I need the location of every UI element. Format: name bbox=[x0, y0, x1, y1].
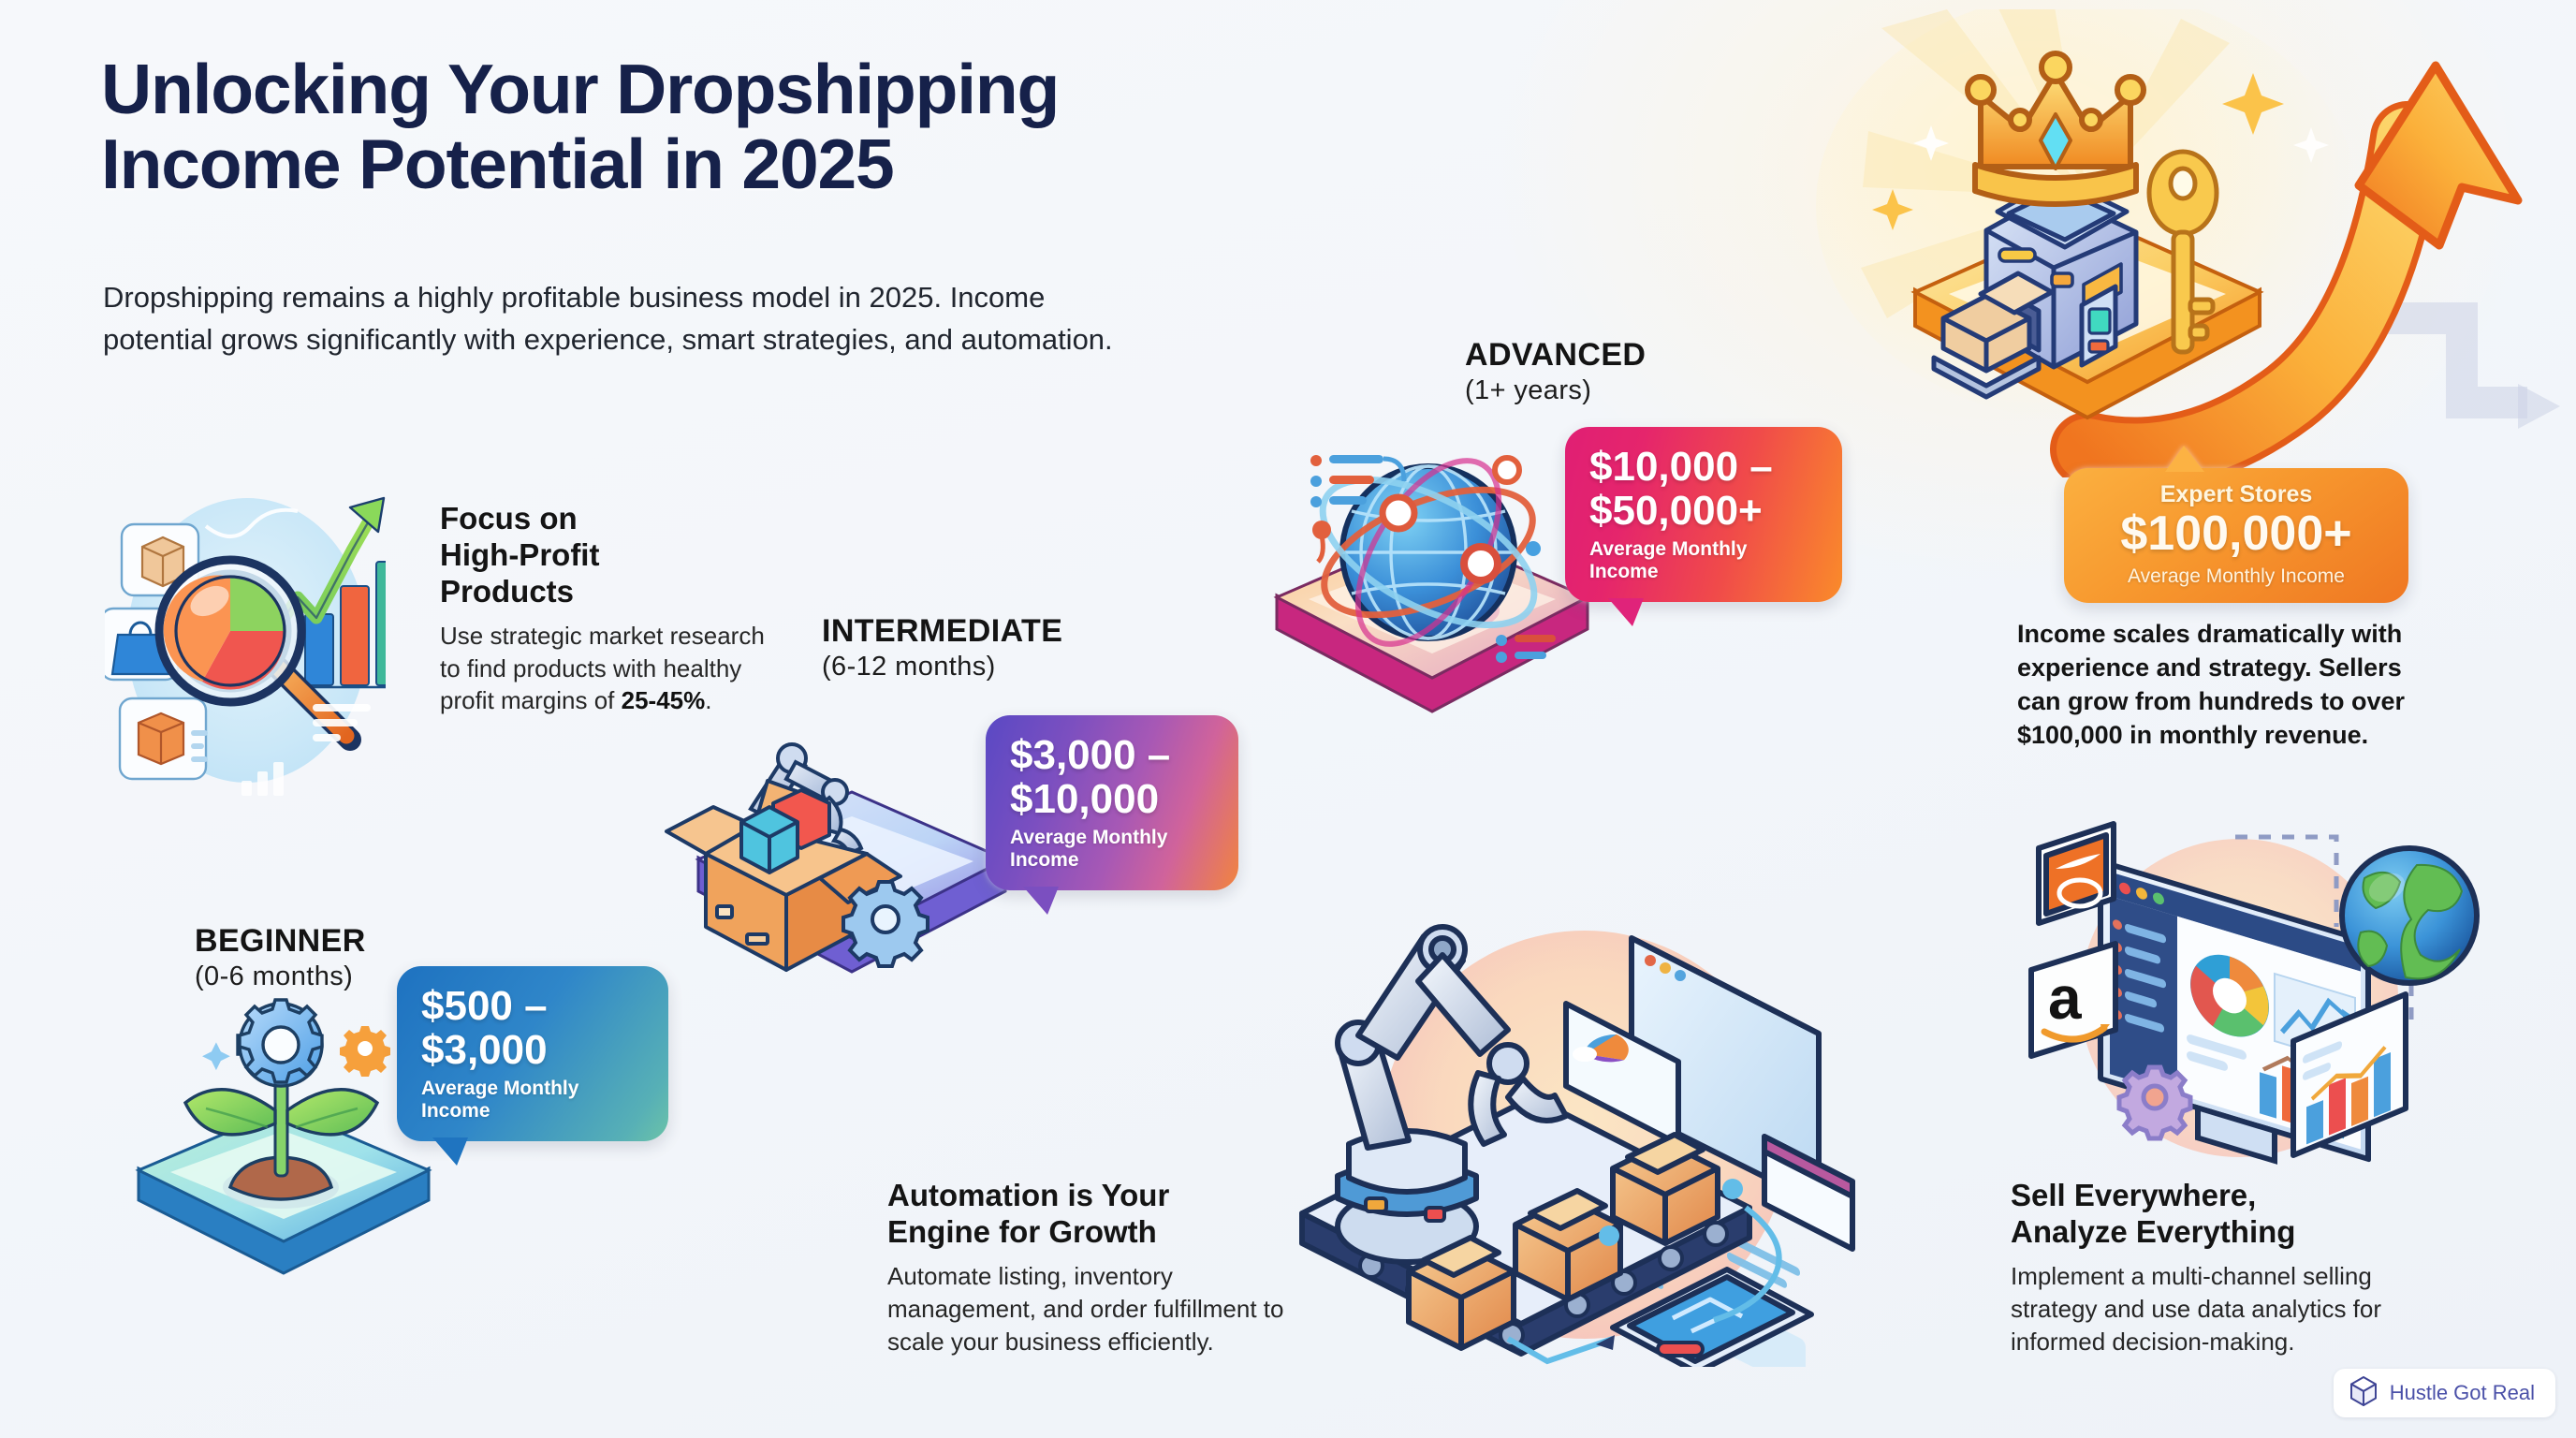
feature-multichannel: Sell Everywhere, Analyze Everything Impl… bbox=[2011, 1178, 2451, 1357]
expert-note-line3: can grow from hundreds to over bbox=[2017, 685, 2438, 719]
monitor-globe-analytics-icon: a bbox=[1994, 796, 2481, 1170]
stage-advanced-amount: $10,000 – $50,000+ bbox=[1589, 446, 1818, 533]
cube-logo-icon bbox=[2349, 1375, 2378, 1412]
expert-note-line4: $100,000 in monthly revenue. bbox=[2017, 719, 2438, 753]
page-subtitle: Dropshipping remains a highly profitable… bbox=[103, 277, 1114, 360]
feature-multichannel-body: Implement a multi-channel selling strate… bbox=[2011, 1260, 2451, 1357]
svg-text:a: a bbox=[2048, 964, 2082, 1032]
feature-automation-title: Automation is Your Engine for Growth bbox=[887, 1178, 1318, 1251]
feature-automation-body: Automate listing, inventory management, … bbox=[887, 1260, 1318, 1357]
expert-note-line2: experience and strategy. Sellers bbox=[2017, 652, 2438, 685]
expert-note-line1: Income scales dramatically with bbox=[2017, 618, 2438, 652]
feature-automation: Automation is Your Engine for Growth Aut… bbox=[887, 1178, 1318, 1357]
stage-advanced-name: ADVANCED bbox=[1465, 337, 1646, 374]
stage-beginner-caption: Average Monthly Income bbox=[421, 1078, 644, 1123]
stage-intermediate-amount: $3,000 – $10,000 bbox=[1010, 734, 1214, 821]
page-title-line2: Income Potential in 2025 bbox=[101, 127, 1430, 202]
stage-beginner-amount: $500 – $3,000 bbox=[421, 985, 644, 1072]
robot-conveyor-icon bbox=[1287, 899, 1867, 1367]
stage-beginner-label: BEGINNER (0-6 months) bbox=[195, 923, 366, 992]
stage-beginner-name: BEGINNER bbox=[195, 923, 366, 960]
stage-expert-amount: $100,000+ bbox=[2083, 508, 2390, 560]
stage-intermediate-bubble: $3,000 – $10,000 Average Monthly Income bbox=[986, 715, 1238, 890]
watermark-label: Hustle Got Real bbox=[2390, 1381, 2535, 1405]
stage-advanced-duration: (1+ years) bbox=[1465, 375, 1646, 406]
feature-high-profit-title: Focus on High-Profit Products bbox=[440, 501, 766, 610]
bubble-tail bbox=[2165, 446, 2204, 472]
page-title: Unlocking Your Dropshipping Income Poten… bbox=[101, 52, 1430, 201]
box-robot-arm-icon bbox=[665, 712, 1039, 992]
stage-expert-bubble: Expert Stores $100,000+ Average Monthly … bbox=[2064, 468, 2408, 603]
expert-note: Income scales dramatically with experien… bbox=[2017, 618, 2438, 753]
stage-intermediate-label: INTERMEDIATE (6-12 months) bbox=[822, 613, 1062, 682]
stage-beginner-duration: (0-6 months) bbox=[195, 961, 366, 992]
crowned-store-icon bbox=[1807, 9, 2565, 477]
bubble-tail bbox=[1023, 887, 1059, 915]
feature-high-profit: Focus on High-Profit Products Use strate… bbox=[440, 501, 766, 717]
stage-advanced-bubble: $10,000 – $50,000+ Average Monthly Incom… bbox=[1565, 427, 1842, 602]
feature-multichannel-title: Sell Everywhere, Analyze Everything bbox=[2011, 1178, 2451, 1251]
magnifier-chart-icon bbox=[105, 457, 386, 813]
stage-expert-caption: Average Monthly Income bbox=[2083, 565, 2390, 588]
bubble-tail bbox=[1608, 598, 1644, 626]
stage-intermediate-name: INTERMEDIATE bbox=[822, 613, 1062, 650]
bubble-tail bbox=[432, 1137, 468, 1166]
stage-advanced-caption: Average Monthly Income bbox=[1589, 538, 1818, 583]
page-title-line1: Unlocking Your Dropshipping bbox=[101, 52, 1430, 127]
stage-advanced-label: ADVANCED (1+ years) bbox=[1465, 337, 1646, 406]
watermark-badge[interactable]: Hustle Got Real bbox=[2334, 1369, 2555, 1417]
stage-intermediate-caption: Average Monthly Income bbox=[1010, 827, 1214, 872]
stage-beginner-bubble: $500 – $3,000 Average Monthly Income bbox=[397, 966, 668, 1141]
stage-expert-name: Expert Stores bbox=[2083, 481, 2390, 508]
feature-high-profit-body: Use strategic market research to find pr… bbox=[440, 620, 766, 717]
stage-intermediate-duration: (6-12 months) bbox=[822, 652, 1062, 682]
